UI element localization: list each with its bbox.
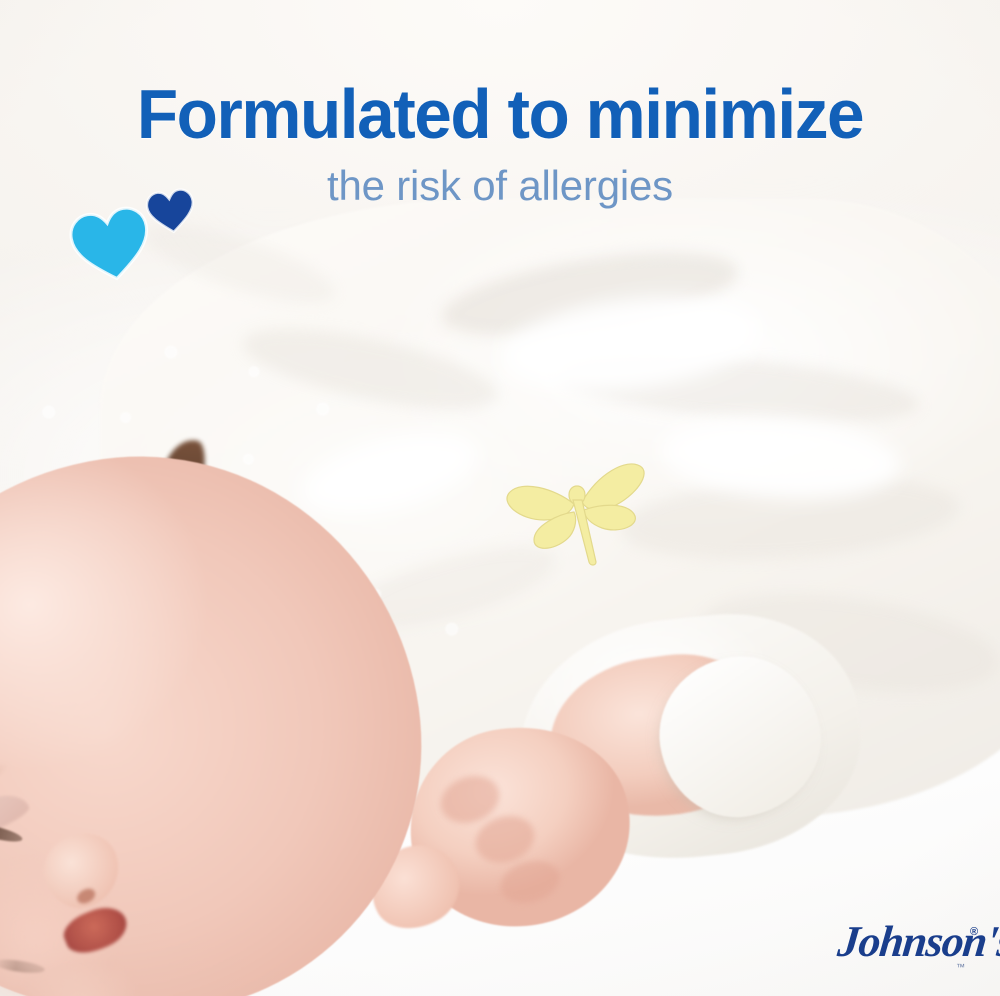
ad-canvas: Formulated to minimize the risk of aller… xyxy=(0,0,1000,996)
heart-icon xyxy=(145,188,197,236)
dragonfly-icon xyxy=(494,452,656,568)
hearts-decoration xyxy=(62,185,212,285)
page-title: Formulated to minimize xyxy=(18,76,983,152)
brand-logo: Johnson's ® ™ xyxy=(838,918,988,976)
heart-icon xyxy=(68,205,154,285)
trademark-icon: ™ xyxy=(956,962,966,972)
registered-trademark-icon: ® xyxy=(970,926,978,938)
